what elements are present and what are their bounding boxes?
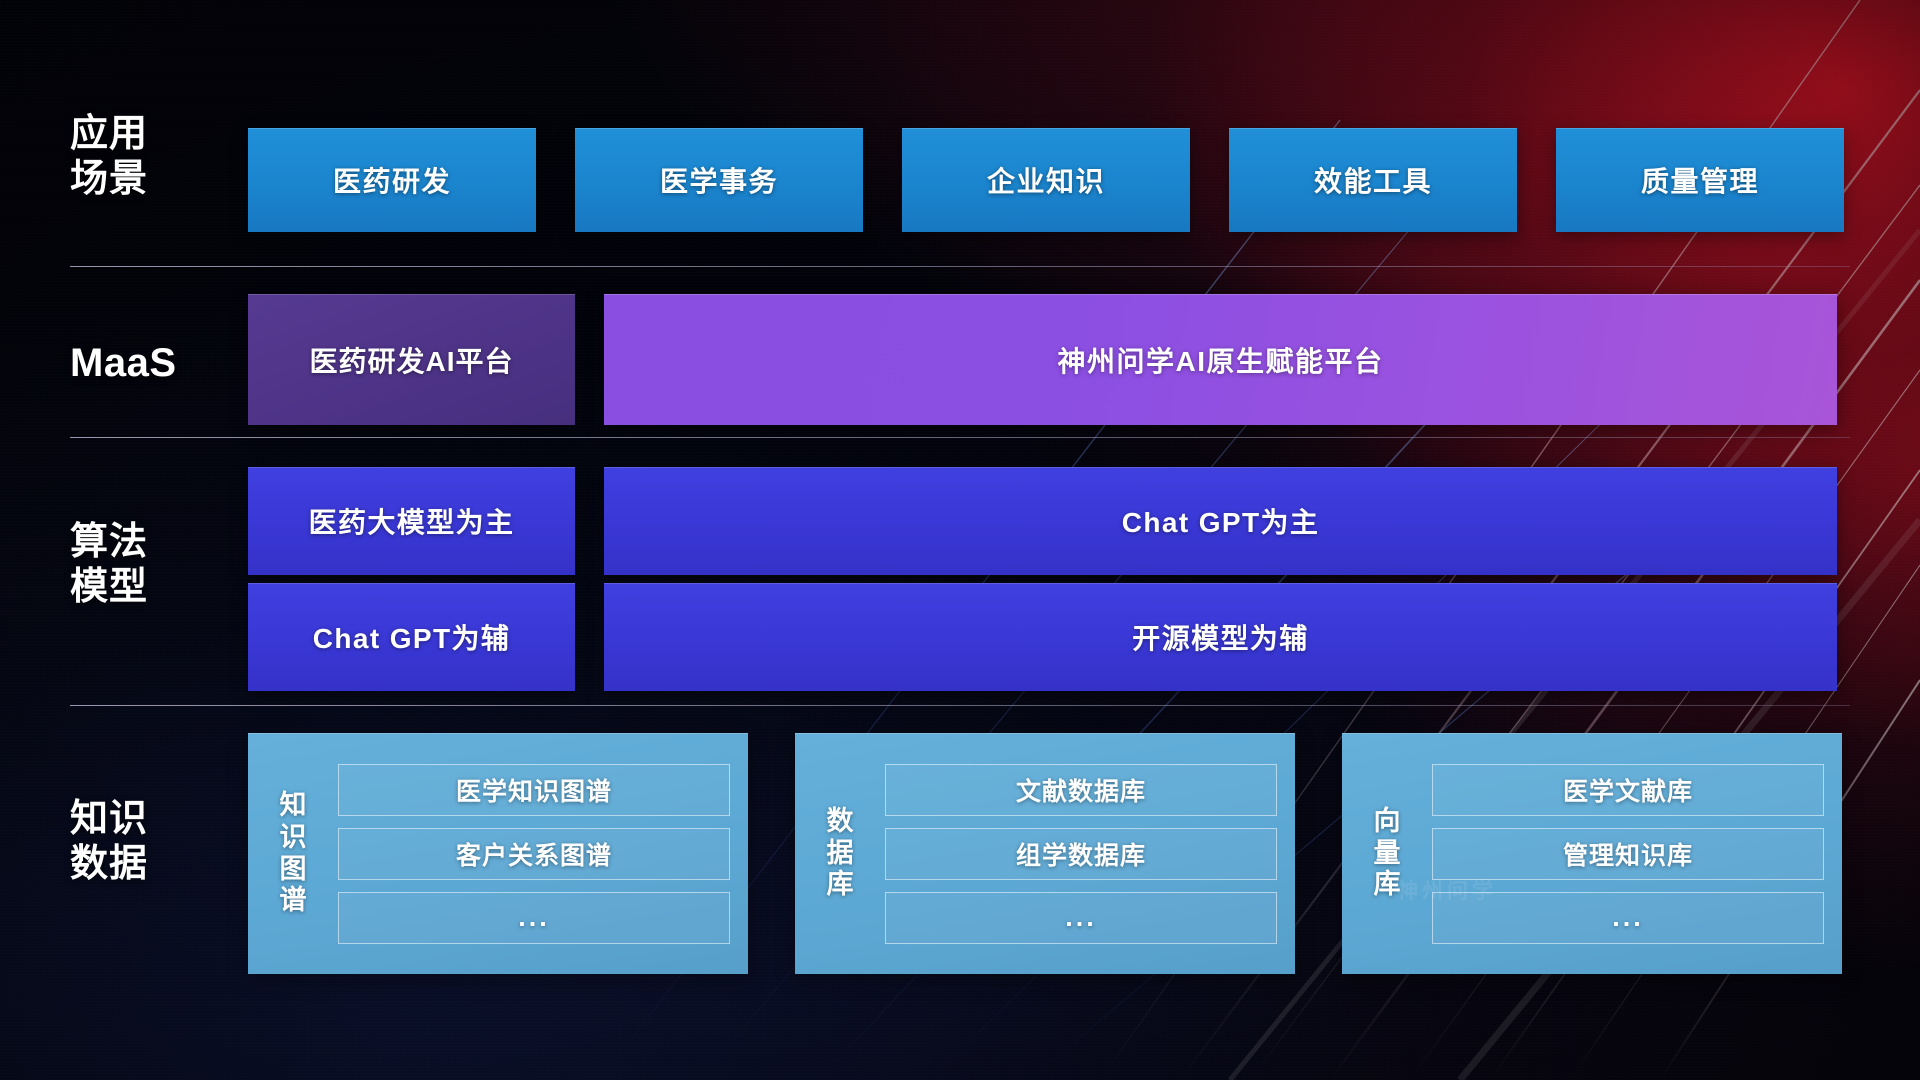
app-tile-enterprise-knowledge[interactable]: 企业知识 (902, 128, 1190, 232)
model-bar-pharma-main[interactable]: 医药大模型为主 (248, 467, 575, 575)
divider-maas-model (70, 437, 1850, 438)
model-bar-chatgpt-aux[interactable]: Chat GPT为辅 (248, 583, 575, 691)
knowledge-group-graph-label-char-1: 知 (280, 790, 307, 822)
knowledge-item-management-kb[interactable]: 管理知识库 (1432, 828, 1824, 880)
architecture-diagram: 应用 场景 医药研发 医学事务 企业知识 效能工具 质量管理 MaaS 医药研发… (0, 0, 1920, 1080)
tier-label-maas: MaaS (70, 340, 210, 387)
knowledge-group-vector-label-char-2: 量 (1374, 838, 1401, 870)
tier-label-algorithm-model: 算法 模型 (70, 520, 210, 610)
model-bar-opensource-aux[interactable]: 开源模型为辅 (604, 583, 1837, 691)
app-tile-drug-rd[interactable]: 医药研发 (248, 128, 536, 232)
knowledge-group-graph-label: 知 识 图 谱 (262, 747, 324, 960)
knowledge-group-graph: 知 识 图 谱 医学知识图谱 客户关系图谱 ... (248, 733, 748, 974)
application-tile-group: 医药研发 医学事务 企业知识 效能工具 质量管理 (248, 128, 1844, 232)
tier-label-application: 应用 场景 (70, 112, 210, 202)
model-bar-chatgpt-main[interactable]: Chat GPT为主 (604, 467, 1837, 575)
knowledge-group-database-label-char-1: 数 (827, 806, 854, 838)
knowledge-item-graph-more[interactable]: ... (338, 892, 730, 944)
knowledge-item-crm-kg[interactable]: 客户关系图谱 (338, 828, 730, 880)
knowledge-group-vector-label-char-1: 向 (1374, 806, 1401, 838)
divider-application-maas (70, 266, 1850, 267)
knowledge-group-graph-items: 医学知识图谱 客户关系图谱 ... (338, 764, 730, 944)
app-tile-efficiency-tools[interactable]: 效能工具 (1229, 128, 1517, 232)
watermark: 神州问学 (1397, 875, 1497, 905)
app-tile-medical-affairs[interactable]: 医学事务 (575, 128, 863, 232)
tier-label-knowledge-data-line2: 数据 (70, 842, 210, 887)
knowledge-group-database: 数 据 库 文献数据库 组学数据库 ... (795, 733, 1295, 974)
knowledge-group-graph-label-char-4: 谱 (280, 885, 307, 917)
knowledge-item-omics-db[interactable]: 组学数据库 (885, 828, 1277, 880)
knowledge-group-vector-label: 向 量 库 (1356, 747, 1418, 960)
knowledge-group-database-label-char-2: 据 (827, 838, 854, 870)
knowledge-item-database-more[interactable]: ... (885, 892, 1277, 944)
knowledge-group-vector-items: 医学文献库 管理知识库 ... (1432, 764, 1824, 944)
knowledge-item-medical-literature[interactable]: 医学文献库 (1432, 764, 1824, 816)
tier-label-knowledge-data-line1: 知识 (70, 797, 210, 842)
knowledge-group-database-items: 文献数据库 组学数据库 ... (885, 764, 1277, 944)
tier-label-algorithm-model-line1: 算法 (70, 520, 210, 565)
divider-model-knowledge (70, 705, 1850, 706)
knowledge-group-vector: 向 量 库 医学文献库 管理知识库 ... (1342, 733, 1842, 974)
knowledge-group-graph-label-char-2: 识 (280, 822, 307, 854)
tier-label-application-line2: 场景 (70, 157, 210, 202)
knowledge-item-literature-db[interactable]: 文献数据库 (885, 764, 1277, 816)
app-tile-quality-management[interactable]: 质量管理 (1556, 128, 1844, 232)
tier-label-knowledge-data: 知识 数据 (70, 797, 210, 887)
maas-platform-shenzhou[interactable]: 神州问学AI原生赋能平台 (604, 294, 1837, 425)
knowledge-item-medical-kg[interactable]: 医学知识图谱 (338, 764, 730, 816)
knowledge-group-database-label-char-3: 库 (827, 869, 854, 901)
knowledge-group-graph-label-char-3: 图 (280, 854, 307, 886)
tier-label-application-line1: 应用 (70, 112, 210, 157)
knowledge-group-database-label: 数 据 库 (809, 747, 871, 960)
tier-label-algorithm-model-line2: 模型 (70, 565, 210, 610)
maas-platform-drug-rd[interactable]: 医药研发AI平台 (248, 294, 575, 425)
knowledge-group-container: 知 识 图 谱 医学知识图谱 客户关系图谱 ... 数 据 库 文献数据库 组学… (248, 733, 1842, 974)
